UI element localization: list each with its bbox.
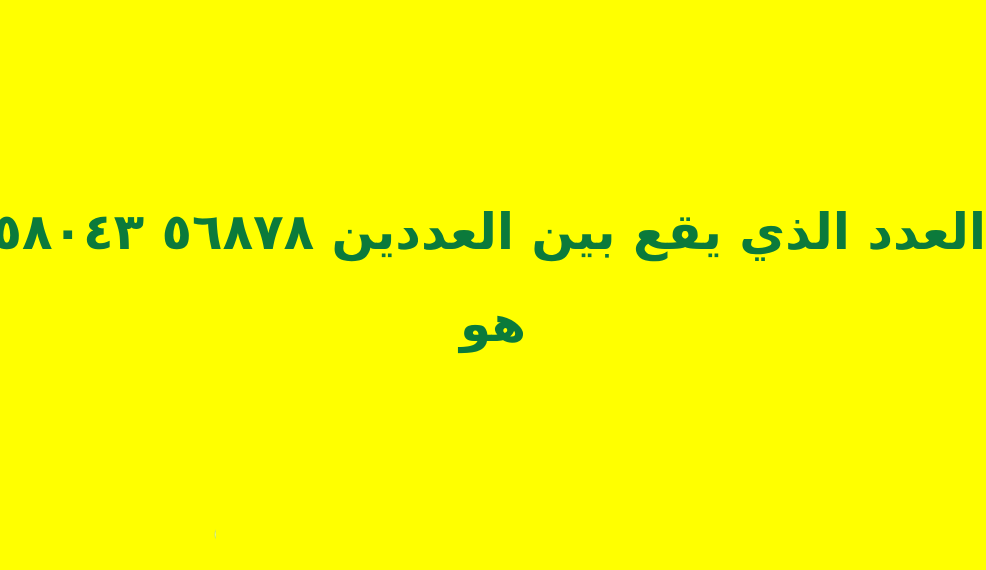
- question-text-block: العدد الذي يقع بين العددين ٥٦٨٧٨ ٥٨٠٤٣ ه…: [0, 186, 986, 370]
- watermark-logo-svg: موسوعة: [16, 490, 216, 556]
- image-canvas: العدد الذي يقع بين العددين ٥٦٨٧٨ ٥٨٠٤٣ ه…: [0, 0, 986, 570]
- watermark-brand-text: موسوعة: [212, 492, 216, 555]
- watermark-logo: موسوعة: [16, 490, 216, 556]
- question-line-1: العدد الذي يقع بين العددين ٥٦٨٧٨ ٥٨٠٤٣: [0, 186, 986, 278]
- question-line-2: هو: [0, 278, 986, 370]
